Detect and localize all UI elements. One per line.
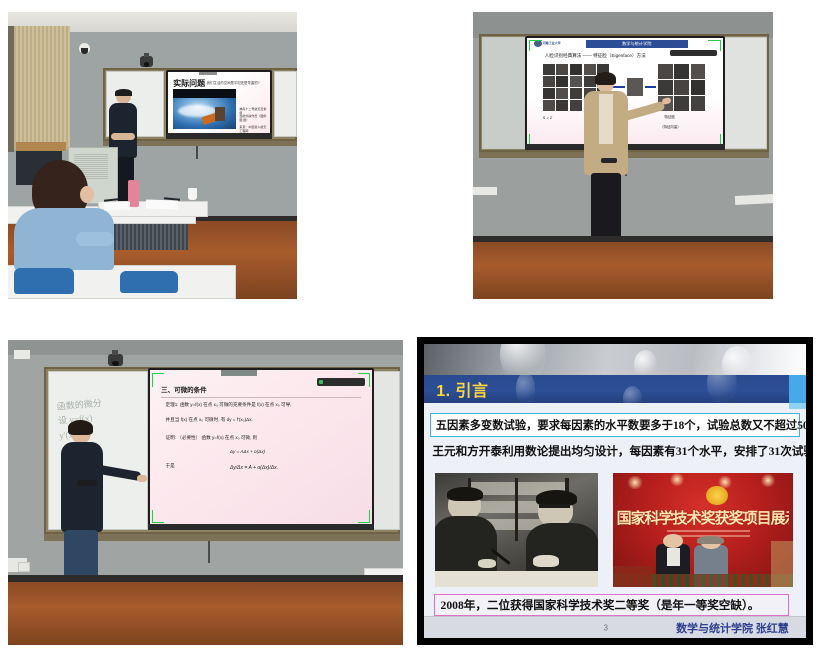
title-underline: [161, 397, 361, 398]
ceiling-light: [626, 476, 644, 490]
slide-toolbar-dot: [319, 380, 323, 384]
wood-slat-wall: [12, 26, 70, 150]
wood-counter: [16, 142, 66, 151]
formula-label: S = Σ: [543, 115, 553, 120]
eigenface-sublabel: （特征向量）: [660, 124, 680, 129]
lecturer-inner: [599, 94, 613, 144]
slide-image-earth: [173, 89, 236, 129]
recipient-right-hair: [697, 536, 724, 544]
stage-front-left: [613, 566, 652, 586]
panel-top-right[interactable]: 数学与统计学院 河南工业大学 人脸识别经典算法 —— 特征脸（Eigenface…: [473, 12, 773, 299]
paper-sheet-2: [146, 199, 178, 209]
slide-formula-2: Δy/Δx = A + o(Δx)/Δx.: [230, 465, 278, 471]
slide-line-2: 并且当 f(x) 在点 x₀ 可微时, 有 dy = f'(x₀)Δx.: [166, 417, 253, 423]
photo-award-ceremony: 国家科学技术奖获奖项目展示: [613, 473, 793, 586]
lecturer-hands: [111, 133, 135, 140]
slide-header-accent: [789, 375, 806, 403]
lecturer-top: [61, 442, 103, 532]
focus-corner-tl: [152, 373, 164, 387]
student-arm: [76, 232, 114, 246]
slide-caption-top-left: 神舟十二号航天员乘组 在舱外操作员（图供图 摄） 来源：中国载人航天工程网: [239, 108, 268, 134]
slide-line-4: 于是: [166, 463, 175, 469]
statement-box-text: 五因素多变数试验，要求每因素的水平数要多于18个，试验总数又不超过50。: [431, 417, 813, 433]
decorative-bubble: [707, 375, 738, 403]
decorative-bubble: [722, 346, 753, 375]
photo-award-ceremony-frame: 国家科学技术奖获奖项目展示: [613, 473, 793, 586]
wall-socket: [18, 562, 30, 572]
hall-wall-right: [771, 541, 793, 586]
scholar-right-hand: [533, 555, 559, 567]
photo-two-scholars-bw: [435, 473, 597, 586]
display-screen: 三、可微的条件 定理1: 函数 y=f(x) 在点 x₀ 可微的充要条件是 f(…: [150, 370, 372, 528]
shelf-post: [515, 478, 518, 541]
focus-corner-br: [358, 510, 370, 524]
floor: [8, 582, 403, 645]
focus-corner-tr: [358, 373, 370, 387]
display-screen: 实际问题 我们生活的空间是平坦还是弯曲的? 神舟十二号航天员乘组 在舱外操作员（…: [168, 72, 270, 137]
baseboard: [8, 575, 403, 582]
whiteboard-right: [274, 71, 297, 137]
paper-sheet: [104, 201, 130, 210]
ptz-camera-icon: [108, 354, 123, 366]
ptz-camera-icon: [140, 56, 153, 67]
camera-mount: [112, 350, 118, 355]
slide-line-1: 定理1: 函数 y=f(x) 在点 x₀ 可微的充要条件是 f(x) 在点 x₀…: [166, 402, 292, 408]
photo-collage: 实际问题 我们生活的空间是平坦还是弯曲的? 神舟十二号航天员乘组 在舱外操作员（…: [0, 0, 823, 654]
presenter-remote: [601, 158, 617, 163]
footnote-box-text: 2008年，二位获得国家科学技术奖二等奖（是年一等奖空缺）。: [435, 597, 760, 613]
slide-formula-1: Δy = AΔx + o(Δx): [230, 449, 265, 454]
decorative-bubble: [623, 386, 642, 403]
national-emblem-icon: [706, 486, 728, 505]
whiteboard-right: [724, 37, 767, 149]
university-logo-text: 河南工业大学: [543, 41, 561, 45]
wall-edge: [8, 26, 14, 152]
recipient-left-shirt: [667, 548, 680, 566]
scholar-left-hair: [447, 487, 483, 501]
slide-topbar: [221, 370, 257, 376]
lecturer-hair: [68, 420, 93, 435]
interactive-display[interactable]: 实际问题 我们生活的空间是平坦还是弯曲的? 神舟十二号航天员乘组 在舱外操作员（…: [166, 70, 272, 139]
ceiling-light: [760, 474, 776, 486]
arrow-2-icon: [645, 86, 657, 87]
page-number: 3: [604, 623, 608, 632]
dome-camera-icon: [79, 43, 90, 54]
student-face: [80, 186, 94, 203]
panel-bottom-right[interactable]: 1. 引言 五因素多变数试验，要求每因素的水平数要多于18个，试验总数又不超过5…: [417, 337, 813, 645]
decorative-bubble: [500, 344, 546, 375]
scholar-glasses-icon: [539, 504, 570, 509]
presenter-remote: [77, 480, 97, 486]
eigenface-label: 特征脸: [664, 115, 675, 120]
display-chin: [148, 524, 374, 530]
slide-title-calculus: 三、可微的条件: [161, 384, 207, 394]
side-shelf-left: [473, 187, 497, 195]
footer-attribution: 数学与统计学院 张红慧: [676, 620, 789, 636]
ceiling-light: [669, 473, 685, 485]
award-recipient-left-face: [663, 534, 683, 548]
desk-surface: [435, 571, 597, 587]
slide-title-top-left: 实际问题: [173, 78, 205, 89]
scholar-left-hand: [478, 559, 496, 568]
panel-top-left[interactable]: 实际问题 我们生活的空间是平坦还是弯曲的? 神舟十二号航天员乘组 在舱外操作员（…: [8, 12, 297, 299]
lecturer-trousers: [591, 173, 621, 245]
whiteboard-right: [373, 371, 400, 530]
floor: [473, 242, 773, 299]
upper-wall: [8, 340, 403, 355]
photo-two-scholars-frame: [435, 473, 597, 586]
panel-bottom-left[interactable]: 函数的微分 设 y=f(x) y'(x₀)Δx 三、可微的条件 定理1: 函数 …: [8, 340, 403, 645]
camera-mount: [144, 53, 149, 57]
slide-top-strip: [424, 344, 806, 375]
cable: [208, 541, 210, 563]
focus-corner-bl: [152, 510, 164, 524]
chair-blue-1: [14, 268, 74, 294]
decorative-bubble: [634, 350, 657, 375]
interactive-display[interactable]: 三、可微的条件 定理1: 函数 y=f(x) 在点 x₀ 可微的充要条件是 f(…: [148, 368, 374, 530]
slide-topbar: [199, 72, 217, 75]
slide-heading: 1. 引言: [436, 377, 488, 401]
wall-fixture: [14, 350, 30, 359]
statement-plain: 王元和方开泰利用数论提出均匀设计，每因素有31个水平，安排了31次试验。: [432, 443, 813, 459]
decorative-bubble: [516, 375, 535, 403]
lecturer-hand: [137, 475, 147, 482]
lecturer-female: [583, 74, 631, 261]
focus-corner-tr: [708, 40, 721, 51]
paper-cup: [188, 188, 197, 200]
lecturer-hair: [595, 72, 616, 85]
cable: [196, 146, 198, 159]
slide-header-banner-text: 数学与统计学院: [586, 40, 688, 48]
lecturer-hair: [115, 89, 132, 96]
slide-subtitle-top-left: 我们生活的空间是平坦还是弯曲的?: [207, 80, 260, 85]
display-chin: [166, 133, 272, 139]
footnote-box-pink: 2008年，二位获得国家科学技术奖二等奖（是年一等奖空缺）。: [434, 594, 789, 616]
slide-title-eigenface: 人脸识别经典算法 —— 特征脸（Eigenface）方法: [545, 53, 646, 59]
slide-footer: 3 数学与统计学院 张红慧: [424, 616, 806, 638]
slide-line-3: 证明: （必要性） 函数 y=f(x) 在点 x₀ 可微, 则: [166, 435, 258, 441]
whiteboard-left: [482, 37, 525, 149]
award-banner-text: 国家科学技术奖获奖项目展示: [617, 507, 789, 528]
presentation-slide: 1. 引言 五因素多变数试验，要求每因素的水平数要多于18个，试验总数又不超过5…: [424, 344, 806, 638]
chair-blue-2: [120, 271, 178, 293]
statement-box-cyan: 五因素多变数试验，要求每因素的水平数要多于18个，试验总数又不超过50。: [430, 413, 801, 437]
focus-corner-tl: [529, 40, 542, 51]
student-seated: [14, 160, 118, 278]
